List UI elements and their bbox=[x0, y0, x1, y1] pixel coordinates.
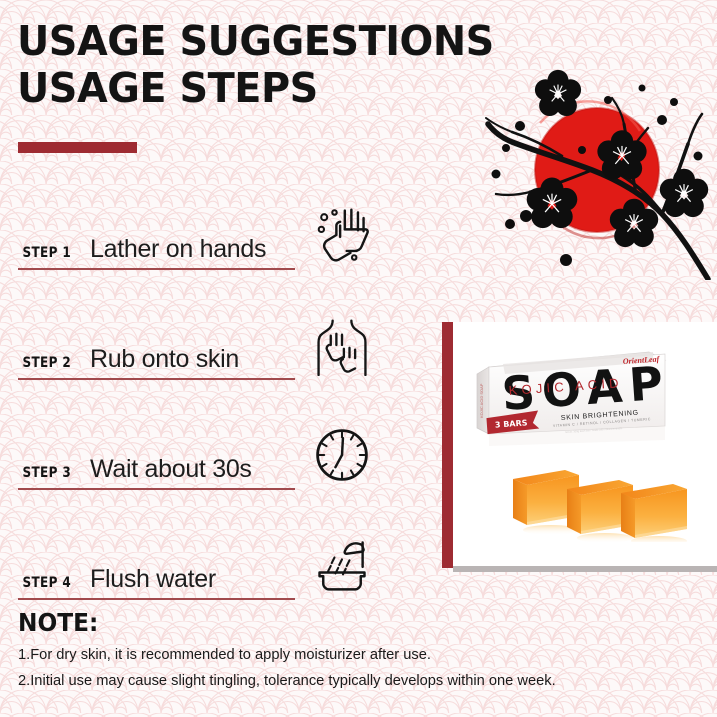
step-text: Rub onto skin bbox=[90, 345, 239, 374]
step-row: STEP 3 Wait about 30s bbox=[0, 400, 400, 510]
soap-bar bbox=[621, 484, 687, 542]
step-label: STEP 3 bbox=[22, 465, 77, 481]
note-line: 1.For dry skin, it is recommended to app… bbox=[18, 646, 684, 663]
step-underline bbox=[18, 598, 295, 600]
step-label: STEP 1 bbox=[22, 245, 77, 261]
step-text: Wait about 30s bbox=[90, 455, 252, 484]
step-text: Flush water bbox=[90, 565, 216, 594]
washing-hands-icon bbox=[312, 204, 372, 266]
note-heading: NOTE: bbox=[18, 608, 660, 637]
title-accent-bar bbox=[18, 142, 137, 153]
step-underline bbox=[18, 378, 295, 380]
step-row: STEP 4 Flush water bbox=[0, 510, 400, 620]
soap-bars-group bbox=[509, 462, 709, 542]
page-title-line-1: USAGE SUGGESTIONS bbox=[17, 18, 494, 65]
clock-icon bbox=[312, 424, 372, 486]
step-underline bbox=[18, 488, 295, 490]
page-title-line-2: USAGE STEPS bbox=[17, 65, 494, 112]
note-line: 2.Initial use may cause slight tingling,… bbox=[18, 672, 684, 689]
steps-list: STEP 1 Lather on hands STEP 2 bbox=[0, 180, 400, 620]
shower-bathtub-icon bbox=[312, 534, 372, 596]
usage-steps-infographic: USAGE SUGGESTIONS USAGE STEPS bbox=[0, 0, 717, 717]
product-image-panel: KOJIC ACID SOAP OrientLeaf SOAP KOJIC AC… bbox=[429, 322, 717, 572]
soap-box-package: KOJIC ACID SOAP OrientLeaf SOAP KOJIC AC… bbox=[473, 348, 669, 446]
step-row: STEP 2 Rub onto skin bbox=[0, 290, 400, 400]
step-label: STEP 4 bbox=[22, 575, 77, 591]
product-panel-accent-bar bbox=[442, 322, 453, 568]
note-section: NOTE: 1.For dry skin, it is recommended … bbox=[18, 608, 708, 689]
rub-torso-icon bbox=[312, 314, 372, 376]
page-title: USAGE SUGGESTIONS USAGE STEPS bbox=[17, 18, 509, 112]
step-label: STEP 2 bbox=[22, 355, 77, 371]
step-text: Lather on hands bbox=[90, 235, 266, 264]
step-row: STEP 1 Lather on hands bbox=[0, 180, 400, 290]
step-underline bbox=[18, 268, 295, 270]
svg-text:KOJIC ACID SOAP: KOJIC ACID SOAP bbox=[479, 383, 484, 418]
product-panel-shadow bbox=[453, 566, 717, 572]
